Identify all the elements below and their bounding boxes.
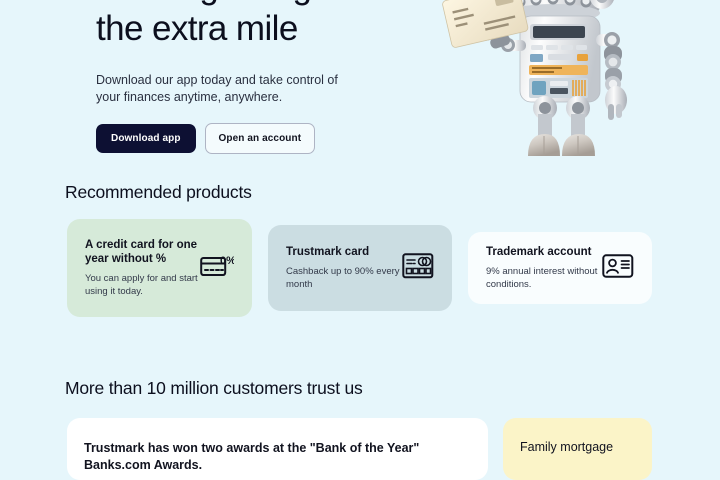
trust-card-family-mortgage[interactable]: Family mortgage <box>503 418 652 480</box>
robot-illustration <box>432 0 662 171</box>
id-card-person-icon <box>602 253 634 284</box>
hero-subtitle: Download our app today and take control … <box>96 72 358 106</box>
product-card-credit-card[interactable]: A credit card for one year without % You… <box>67 219 252 317</box>
trust-card-awards[interactable]: Trustmark has won two awards at the "Ban… <box>67 418 488 480</box>
credit-card-zero-percent-icon: 0% <box>200 252 234 285</box>
page-title: Banking that goes the extra mile <box>96 0 396 50</box>
landing-page: Banking that goes the extra mile Downloa… <box>0 0 720 480</box>
open-an-account-button[interactable]: Open an account <box>205 123 316 154</box>
robot-legs <box>528 96 595 156</box>
robot-right-arm <box>596 32 627 120</box>
bank-card-icon <box>402 253 434 284</box>
product-card-description: Cashback up to 90% every month <box>286 266 402 291</box>
trust-card-text: Trustmark has won two awards at the "Ban… <box>84 440 474 474</box>
hero-copy: Banking that goes the extra mile Downloa… <box>96 0 396 154</box>
product-card-trademark-account[interactable]: Trademark account 9% annual interest wit… <box>468 232 652 304</box>
svg-text:0%: 0% <box>220 255 234 267</box>
trust-heading: More than 10 million customers trust us <box>65 378 363 399</box>
robot-svg <box>432 0 662 171</box>
product-card-trustmark-card[interactable]: Trustmark card Cashback up to 90% every … <box>268 225 452 311</box>
trust-cards-row: Trustmark has won two awards at the "Ban… <box>0 418 720 480</box>
hero-section: Banking that goes the extra mile Downloa… <box>0 0 720 170</box>
product-card-description: You can apply for and start using it tod… <box>85 273 200 298</box>
recommended-products-row: A credit card for one year without % You… <box>0 219 720 317</box>
product-card-title: Trademark account <box>486 245 602 259</box>
download-app-button[interactable]: Download app <box>96 124 196 153</box>
trust-card-text: Family mortgage <box>520 439 613 456</box>
product-card-title: Trustmark card <box>286 245 402 259</box>
product-card-title: A credit card for one year without % <box>85 238 200 266</box>
product-card-description: 9% annual interest without conditions. <box>486 266 602 291</box>
hero-button-group: Download app Open an account <box>96 123 396 154</box>
robot-torso <box>520 16 600 102</box>
recommended-products-heading: Recommended products <box>65 182 252 203</box>
